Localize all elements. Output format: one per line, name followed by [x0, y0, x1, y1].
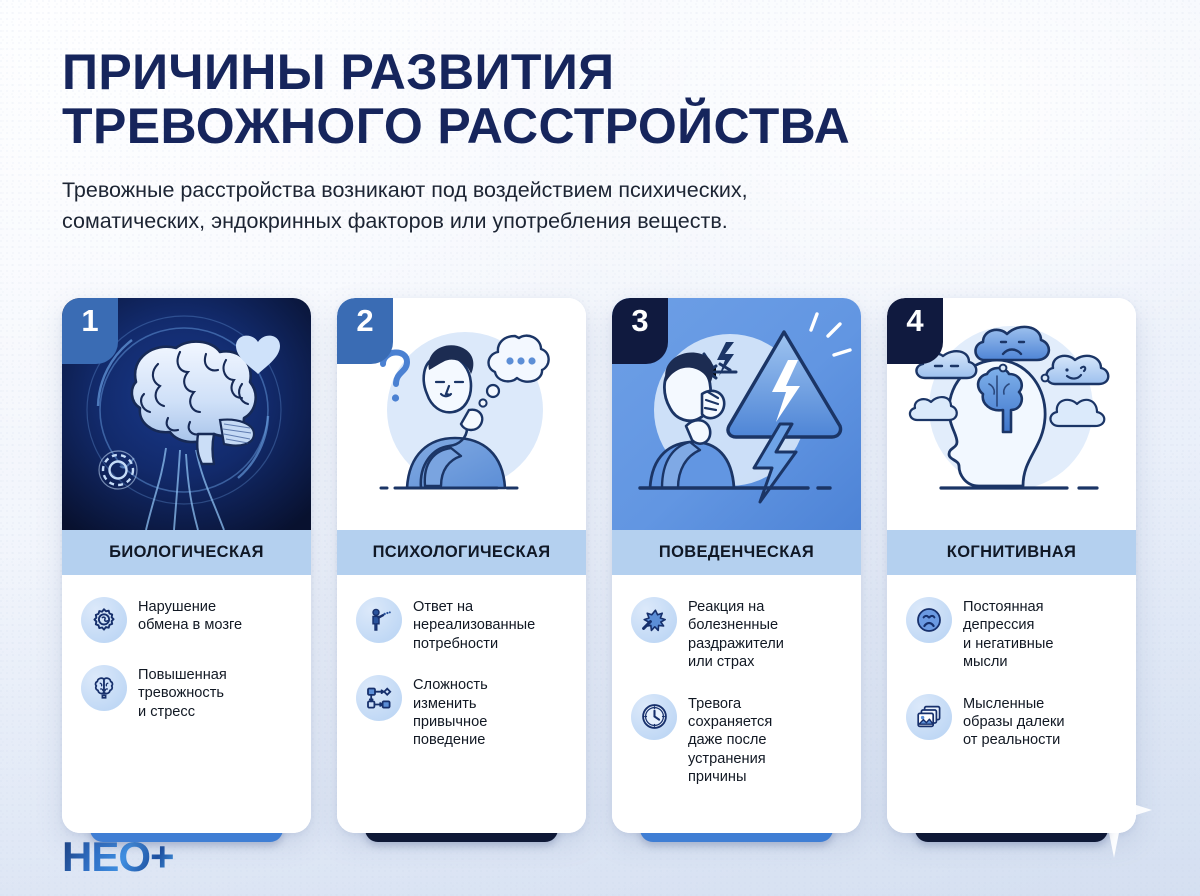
infographic-page: ПРИЧИНЫ РАЗВИТИЯ ТРЕВОЖНОГО РАССТРОЙСТВА…: [0, 0, 1200, 896]
card-biological[interactable]: 1 БИОЛОГИЧЕСКАЯ: [62, 298, 311, 833]
list-item: Мысленные образы далеки от реальности: [906, 694, 1120, 750]
card-illustration-panel: 1: [62, 298, 311, 530]
cards-row: 1 БИОЛОГИЧЕСКАЯ: [62, 298, 1140, 833]
card-category-band: КОГНИТИВНАЯ: [887, 530, 1136, 575]
sad-face-icon: [906, 597, 952, 643]
gear-metabolism-icon: [81, 597, 127, 643]
card-category-label: КОГНИТИВНАЯ: [947, 543, 1076, 562]
card-number-badge: 4: [887, 298, 943, 364]
list-item-text: Реакция на болезненные раздражители или …: [688, 597, 784, 672]
header: ПРИЧИНЫ РАЗВИТИЯ ТРЕВОЖНОГО РАССТРОЙСТВА…: [62, 46, 1062, 236]
list-item: Сложность изменить привычное поведение: [356, 675, 570, 750]
card-number-badge: 3: [612, 298, 668, 364]
list-item: Постоянная депрессия и негативные мысли: [906, 597, 1120, 672]
thought-cloud-small-left: [910, 397, 957, 420]
thought-cloud-sad: [976, 327, 1049, 360]
card-category-label: ПСИХОЛОГИЧЕСКАЯ: [373, 543, 551, 562]
burst-pain-icon: [631, 597, 677, 643]
card-illustration-panel: 3: [612, 298, 861, 530]
flowchart-icon: [356, 675, 402, 721]
list-item-text: Постоянная депрессия и негативные мысли: [963, 597, 1053, 672]
list-item-text: Ответ на нереализованные потребности: [413, 597, 535, 653]
list-item: Реакция на болезненные раздражители или …: [631, 597, 845, 672]
card-illustration-panel: 2: [337, 298, 586, 530]
list-item: Ответ на нереализованные потребности: [356, 597, 570, 653]
card-number-badge: 2: [337, 298, 393, 364]
card-bullet-list: Реакция на болезненные раздражители или …: [612, 575, 861, 833]
page-title: ПРИЧИНЫ РАЗВИТИЯ ТРЕВОЖНОГО РАССТРОЙСТВА: [62, 46, 1062, 153]
card-illustration-panel: 4: [887, 298, 1136, 530]
card-number-badge: 1: [62, 298, 118, 364]
card-cognitive[interactable]: 4 КОГНИТИВНАЯ: [887, 298, 1136, 833]
person-waving-icon: [356, 597, 402, 643]
card-number: 3: [631, 305, 648, 336]
thought-cloud-small-right: [1050, 400, 1104, 426]
card-bullet-list: Постоянная депрессия и негативные мысли: [887, 575, 1136, 833]
card-category-band: БИОЛОГИЧЕСКАЯ: [62, 530, 311, 575]
list-item: Тревога сохраняется даже после устранени…: [631, 694, 845, 787]
card-category-band: ПОВЕДЕНЧЕСКАЯ: [612, 530, 861, 575]
list-item-text: Мысленные образы далеки от реальности: [963, 694, 1065, 750]
list-item: Повышенная тревожность и стресс: [81, 665, 295, 721]
brand-logo: НЕО+: [62, 836, 174, 878]
list-item: Нарушение обмена в мозге: [81, 597, 295, 643]
card-category-label: БИОЛОГИЧЕСКАЯ: [109, 543, 264, 562]
card-psychological[interactable]: 2 ПСИХОЛОГИЧЕСКАЯ: [337, 298, 586, 833]
photos-icon: [906, 694, 952, 740]
card-number: 1: [81, 305, 98, 336]
card-category-band: ПСИХОЛОГИЧЕСКАЯ: [337, 530, 586, 575]
page-subtitle: Тревожные расстройства возникают под воз…: [62, 175, 1012, 236]
list-item-text: Нарушение обмена в мозге: [138, 597, 242, 635]
list-item-text: Сложность изменить привычное поведение: [413, 675, 488, 750]
brain-icon: [81, 665, 127, 711]
card-bullet-list: Нарушение обмена в мозге Повышенная трев…: [62, 575, 311, 833]
list-item-text: Повышенная тревожность и стресс: [138, 665, 227, 721]
card-category-label: ПОВЕДЕНЧЕСКАЯ: [659, 543, 814, 562]
thought-cloud-smile: [1046, 356, 1108, 384]
card-number: 2: [356, 305, 373, 336]
clock-icon: [631, 694, 677, 740]
card-behavioral[interactable]: 3 ПОВЕДЕНЧЕСКАЯ Реакция на б: [612, 298, 861, 833]
list-item-text: Тревога сохраняется даже после устранени…: [688, 694, 772, 787]
card-number: 4: [906, 305, 923, 336]
card-bullet-list: Ответ на нереализованные потребности: [337, 575, 586, 833]
